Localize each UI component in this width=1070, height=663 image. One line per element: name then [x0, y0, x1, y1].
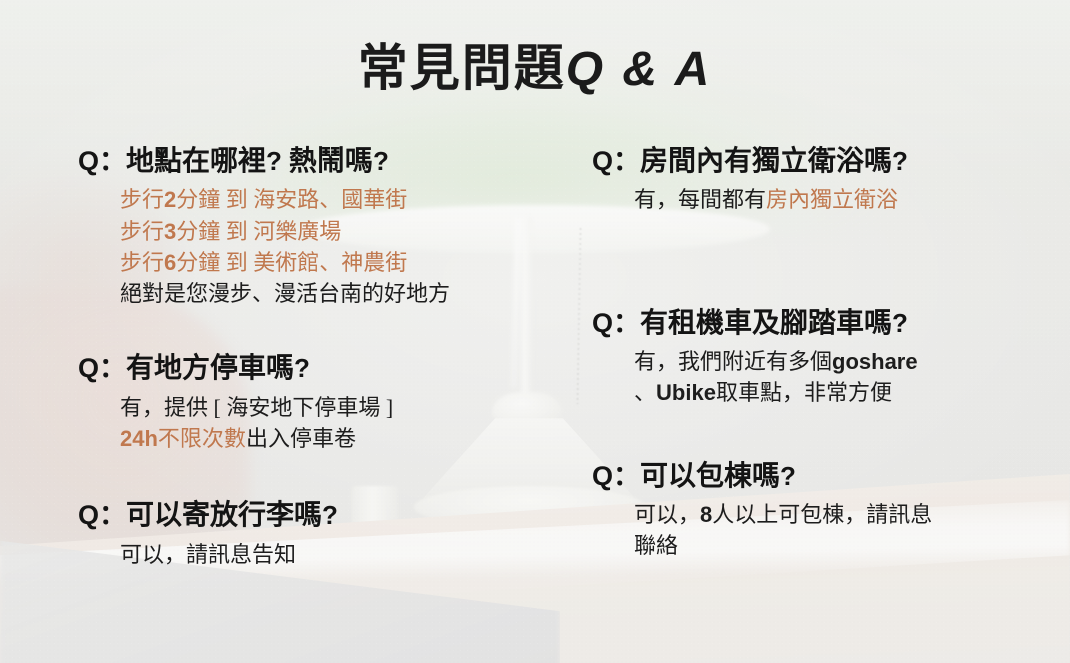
answer-segment: 房內獨立衛浴 — [766, 187, 898, 212]
answer-segment: 8 — [700, 502, 712, 527]
faq-item: Q：有地方停車嗎?有，提供 [ 海安地下停車場 ]24h不限次數出入停車卷 — [78, 353, 548, 454]
faq-question: Q：有租機車及腳踏車嗎? — [592, 308, 992, 340]
answer-segment: 河樂廣場 — [253, 219, 341, 244]
answer-segment: 24h — [120, 426, 158, 451]
answer-segment: 到 — [220, 219, 253, 244]
answer-segment: 3 — [164, 219, 176, 244]
answer-segment: goshare — [832, 349, 918, 374]
faq-question: Q：房間內有獨立衛浴嗎? — [592, 146, 992, 178]
faq-item: Q：房間內有獨立衛浴嗎?有，每間都有房內獨立衛浴 — [592, 146, 992, 216]
answer-segment: 取車點，非常方便 — [716, 380, 892, 405]
answer-segment: 不限次數 — [158, 426, 246, 451]
question-text: 有地方停車嗎? — [126, 353, 310, 384]
question-mark-glyph: ? — [892, 308, 908, 338]
block-spacer — [592, 409, 992, 461]
faq-answer-line: 、Ubike取車點，非常方便 — [592, 377, 992, 408]
faq-answer-line: 有，每間都有房內獨立衛浴 — [592, 184, 992, 215]
faq-question: Q：可以包棟嗎? — [592, 461, 992, 493]
question-marker: Q： — [78, 146, 126, 176]
answer-segment: 分鐘 — [176, 187, 220, 212]
faq-answer-line: 步行6分鐘 到 美術館、神農街 — [78, 247, 548, 278]
question-text: 可以寄放行李嗎? — [126, 500, 338, 531]
faq-item: Q：有租機車及腳踏車嗎?有，我們附近有多個goshare、Ubike取車點，非常… — [592, 308, 992, 409]
faq-answer-line: 步行3分鐘 到 河樂廣場 — [78, 216, 548, 247]
answer-segment: 出入停車卷 — [246, 426, 356, 451]
faq-slide: 常見問題Q & A Q：地點在哪裡? 熱鬧嗎?步行2分鐘 到 海安路、國華街步行… — [0, 0, 1070, 663]
answer-segment: 海安路、國華街 — [253, 187, 407, 212]
question-marker: Q： — [592, 461, 640, 491]
slide-content: 常見問題Q & A Q：地點在哪裡? 熱鬧嗎?步行2分鐘 到 海安路、國華街步行… — [0, 0, 1070, 663]
faq-answer-line: 聯絡 — [592, 530, 992, 561]
block-spacer — [78, 309, 548, 353]
page-title: 常見問題Q & A — [0, 28, 1070, 100]
faq-item: Q：可以寄放行李嗎?可以，請訊息告知 — [78, 500, 548, 570]
faq-answer-line: 步行2分鐘 到 海安路、國華街 — [78, 184, 548, 215]
faq-item: Q：可以包棟嗎?可以，8人以上可包棟，請訊息聯絡 — [592, 461, 992, 562]
question-mark-glyph: ? — [780, 461, 796, 491]
answer-segment: 到 — [220, 187, 253, 212]
answer-segment: 分鐘 — [176, 219, 220, 244]
faq-question: Q：有地方停車嗎? — [78, 353, 548, 385]
answer-segment: 有，我們附近有多個 — [634, 349, 832, 374]
question-marker: Q： — [592, 146, 640, 176]
faq-item: Q：地點在哪裡? 熱鬧嗎?步行2分鐘 到 海安路、國華街步行3分鐘 到 河樂廣場… — [78, 146, 548, 309]
answer-segment: 可以，請訊息告知 — [120, 542, 296, 567]
answer-segment: 、 — [634, 380, 656, 405]
faq-answer-line: 可以，8人以上可包棟，請訊息 — [592, 499, 992, 530]
question-mark-glyph: ? — [322, 500, 338, 530]
faq-column-right: Q：房間內有獨立衛浴嗎?有，每間都有房內獨立衛浴Q：有租機車及腳踏車嗎?有，我們… — [592, 146, 992, 562]
question-mark-glyph: ? — [892, 146, 908, 176]
question-text: 房間內有獨立衛浴嗎? — [640, 146, 908, 177]
answer-segment: 步行 — [120, 187, 164, 212]
answer-segment: 2 — [164, 187, 176, 212]
answer-segment: 絕對是您漫步、漫活台南的好地方 — [120, 281, 450, 306]
question-mark-glyph: ? — [266, 146, 282, 176]
faq-answer-line: 有，提供 [ 海安地下停車場 ] — [78, 392, 548, 423]
question-text: 可以包棟嗎? — [640, 461, 796, 492]
page-title-cjk: 常見問題 — [358, 40, 566, 96]
question-marker: Q： — [592, 308, 640, 338]
page-title-latin: Q & A — [566, 43, 713, 96]
answer-segment: 美術館、神農街 — [253, 250, 407, 275]
answer-segment: 6 — [164, 250, 176, 275]
answer-segment: 聯絡 — [634, 533, 678, 558]
question-text: 有租機車及腳踏車嗎? — [640, 308, 908, 339]
answer-segment: 分鐘 — [176, 250, 220, 275]
question-marker: Q： — [78, 353, 126, 383]
faq-question: Q：地點在哪裡? 熱鬧嗎? — [78, 146, 548, 178]
faq-column-left: Q：地點在哪裡? 熱鬧嗎?步行2分鐘 到 海安路、國華街步行3分鐘 到 河樂廣場… — [78, 146, 548, 570]
question-mark-glyph: ? — [373, 146, 389, 176]
question-text: 地點在哪裡? 熱鬧嗎? — [126, 146, 389, 177]
faq-answer-line: 絕對是您漫步、漫活台南的好地方 — [78, 278, 548, 309]
answer-segment: 到 — [220, 250, 253, 275]
answer-segment: 可以， — [634, 502, 700, 527]
faq-answer-line: 24h不限次數出入停車卷 — [78, 423, 548, 454]
block-spacer — [592, 216, 992, 308]
faq-question: Q：可以寄放行李嗎? — [78, 500, 548, 532]
question-marker: Q： — [78, 500, 126, 530]
faq-answer-line: 有，我們附近有多個goshare — [592, 346, 992, 377]
answer-segment: 步行 — [120, 250, 164, 275]
answer-segment: 人以上可包棟，請訊息 — [712, 502, 932, 527]
faq-answer-line: 可以，請訊息告知 — [78, 539, 548, 570]
answer-segment: 有，每間都有 — [634, 187, 766, 212]
answer-segment: Ubike — [656, 380, 716, 405]
answer-segment: 步行 — [120, 219, 164, 244]
answer-segment: 有，提供 [ 海安地下停車場 ] — [120, 395, 393, 420]
block-spacer — [78, 454, 548, 500]
question-mark-glyph: ? — [294, 353, 310, 383]
